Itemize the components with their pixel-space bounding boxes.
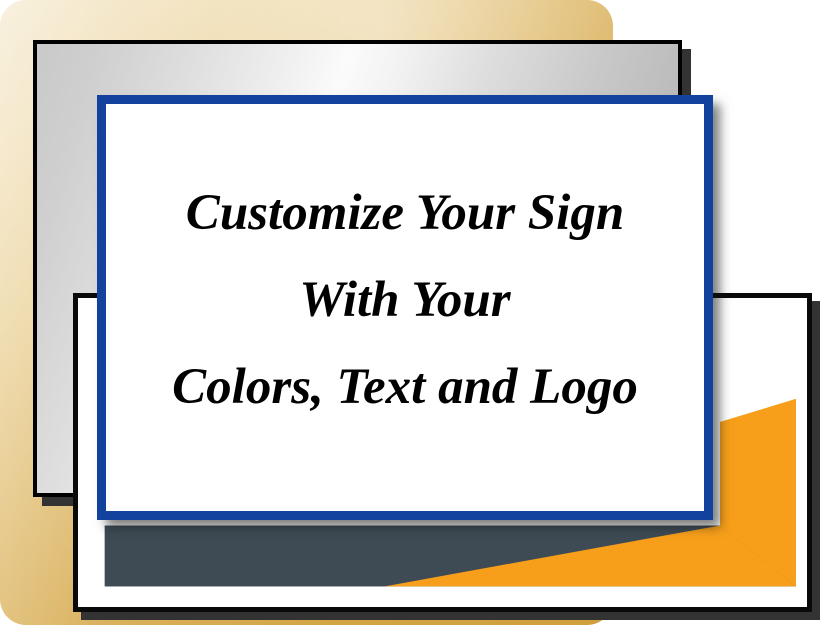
sign-text-line-2: With Your [132, 275, 678, 326]
sign-text-line-1: Customize Your Sign [132, 188, 678, 239]
sign-text-area: Customize Your Sign With Your Colors, Te… [106, 104, 704, 511]
sign-preview-stage: Customize Your Sign With Your Colors, Te… [0, 0, 822, 631]
sign-text-line-3: Colors, Text and Logo [132, 362, 678, 413]
customizable-sign-card[interactable]: Customize Your Sign With Your Colors, Te… [97, 95, 713, 520]
